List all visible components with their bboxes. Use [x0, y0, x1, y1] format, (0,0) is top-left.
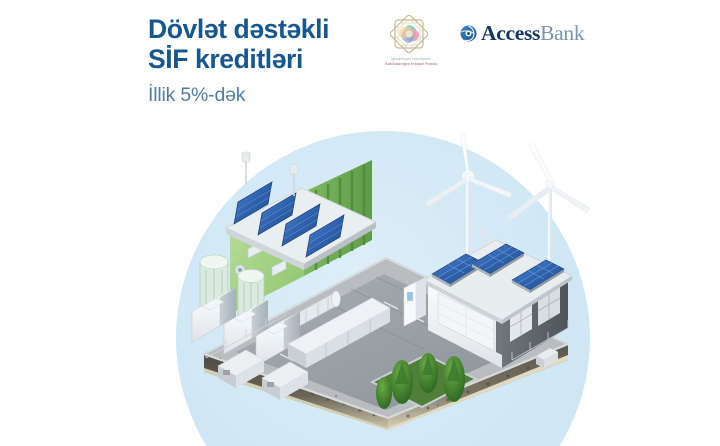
- promo-banner: Dövlət dəstəkli SİF kreditləri İllik 5%-…: [0, 0, 720, 446]
- subheadline: İllik 5%-dək: [148, 84, 363, 107]
- logo-row: İqtisadiyyat Nazirliyinin Sahibkarlığın …: [372, 12, 584, 66]
- sif-caption-line-2: Sahibkarlığın İnkişaf Fondu: [385, 62, 437, 67]
- accessbank-logo[interactable]: AccessBank: [460, 23, 584, 45]
- globe-swirl-icon: [460, 25, 477, 42]
- accessbank-word-access: Access: [481, 21, 540, 45]
- headline-line-1: Dövlət dəstəkli: [148, 14, 363, 45]
- headline-line-2: SİF kreditləri: [148, 44, 363, 75]
- accessbank-wordmark: AccessBank: [481, 23, 584, 45]
- octagonal-ornament-icon: [384, 12, 438, 56]
- sif-logo[interactable]: İqtisadiyyat Nazirliyinin Sahibkarlığın …: [372, 12, 450, 66]
- accessbank-word-bank: Bank: [540, 21, 584, 45]
- headline-block: Dövlət dəstəkli SİF kreditləri İllik 5%-…: [148, 14, 363, 107]
- green-energy-facility-illustration: [176, 130, 596, 430]
